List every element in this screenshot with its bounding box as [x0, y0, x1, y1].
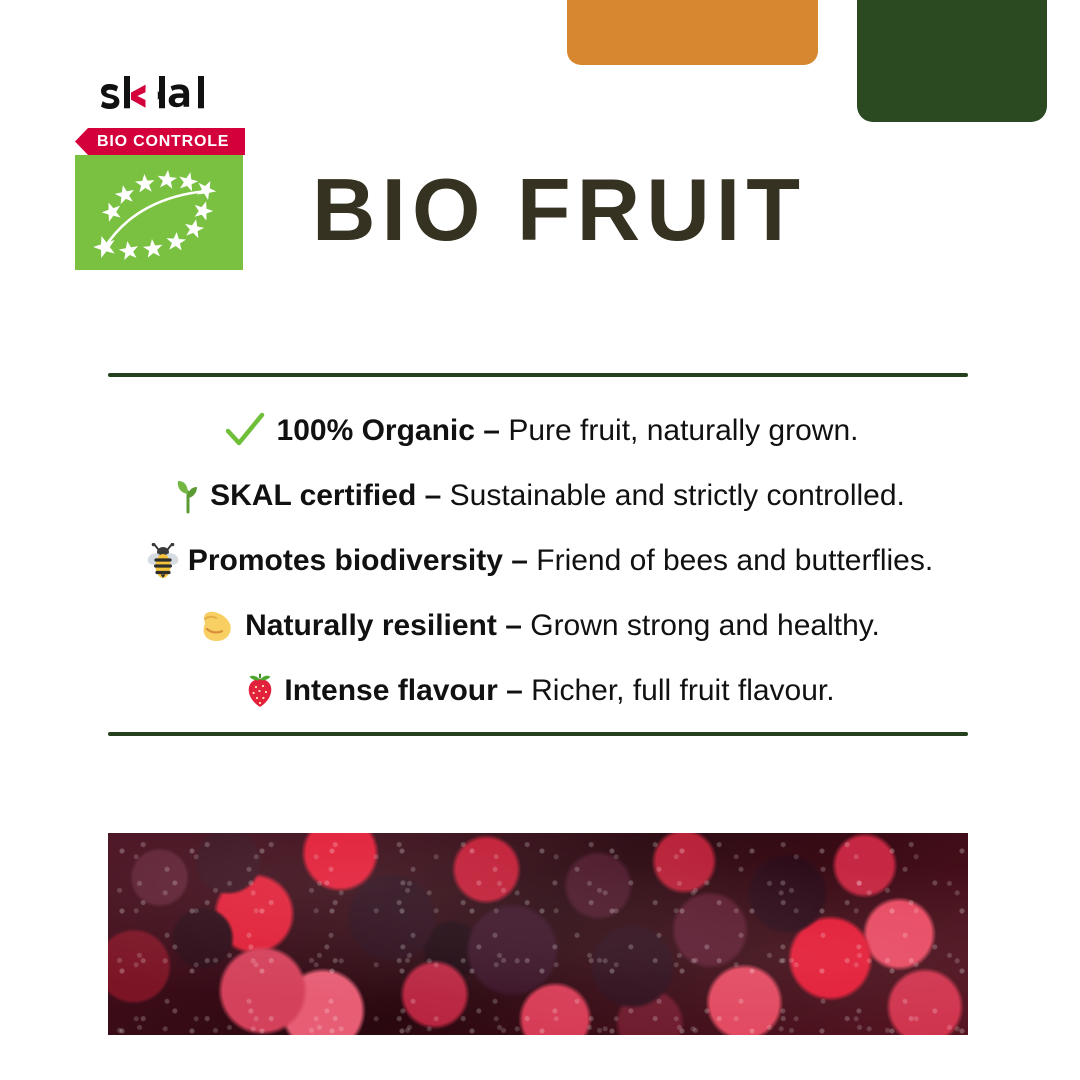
benefits-list: 100% Organic – Pure fruit, naturally gro…: [90, 398, 990, 723]
divider-bottom: [108, 732, 968, 736]
bio-controle-banner: BIO CONTROLE: [75, 128, 245, 155]
list-item-text: 100% Organic – Pure fruit, naturally gro…: [277, 414, 859, 447]
poster-canvas: BIO CONTROLE: [0, 0, 1080, 1080]
divider-top: [108, 373, 968, 377]
bio-controle-label: BIO CONTROLE: [97, 133, 229, 151]
list-item-lead: Intense flavour –: [284, 674, 531, 707]
list-item: SKAL certified – Sustainable and strictl…: [175, 463, 905, 528]
list-item: Naturally resilient – Grown strong and h…: [200, 593, 880, 658]
list-item-text: Intense flavour – Richer, full fruit fla…: [284, 674, 834, 707]
berry-photo-image: [108, 833, 968, 1035]
list-item-text: Promotes biodiversity – Friend of bees a…: [188, 544, 933, 577]
list-item-rest: Sustainable and strictly controlled.: [450, 479, 905, 512]
list-item-lead: 100% Organic –: [277, 414, 509, 447]
page-title: BIO FRUIT: [312, 166, 806, 254]
skal-wordmark: [101, 72, 325, 120]
list-item-lead: Naturally resilient –: [245, 609, 530, 642]
berry-photo-strip: [108, 833, 968, 1035]
skal-logo: BIO CONTROLE: [75, 72, 325, 270]
list-item: 100% Organic – Pure fruit, naturally gro…: [222, 398, 859, 463]
list-item-text: SKAL certified – Sustainable and strictl…: [210, 479, 905, 512]
list-item-text: Naturally resilient – Grown strong and h…: [245, 609, 880, 642]
decorative-block-green: [857, 0, 1047, 122]
list-item-rest: Pure fruit, naturally grown.: [508, 414, 858, 447]
list-item: Intense flavour – Richer, full fruit fla…: [245, 658, 834, 723]
check-mark-icon: [222, 414, 268, 448]
seedling-icon: [175, 479, 201, 513]
list-item-lead: SKAL certified –: [210, 479, 450, 512]
flexed-biceps-icon: [200, 609, 236, 643]
list-item-rest: Friend of bees and butterflies.: [536, 544, 933, 577]
honeybee-icon: [147, 544, 179, 578]
list-item-rest: Richer, full fruit flavour.: [531, 674, 834, 707]
decorative-block-orange: [567, 0, 818, 65]
list-item-rest: Grown strong and healthy.: [530, 609, 880, 642]
eu-organic-leaf-logo: [75, 155, 243, 270]
list-item: Promotes biodiversity – Friend of bees a…: [147, 528, 933, 593]
strawberry-icon: [245, 674, 275, 708]
list-item-lead: Promotes biodiversity –: [188, 544, 536, 577]
